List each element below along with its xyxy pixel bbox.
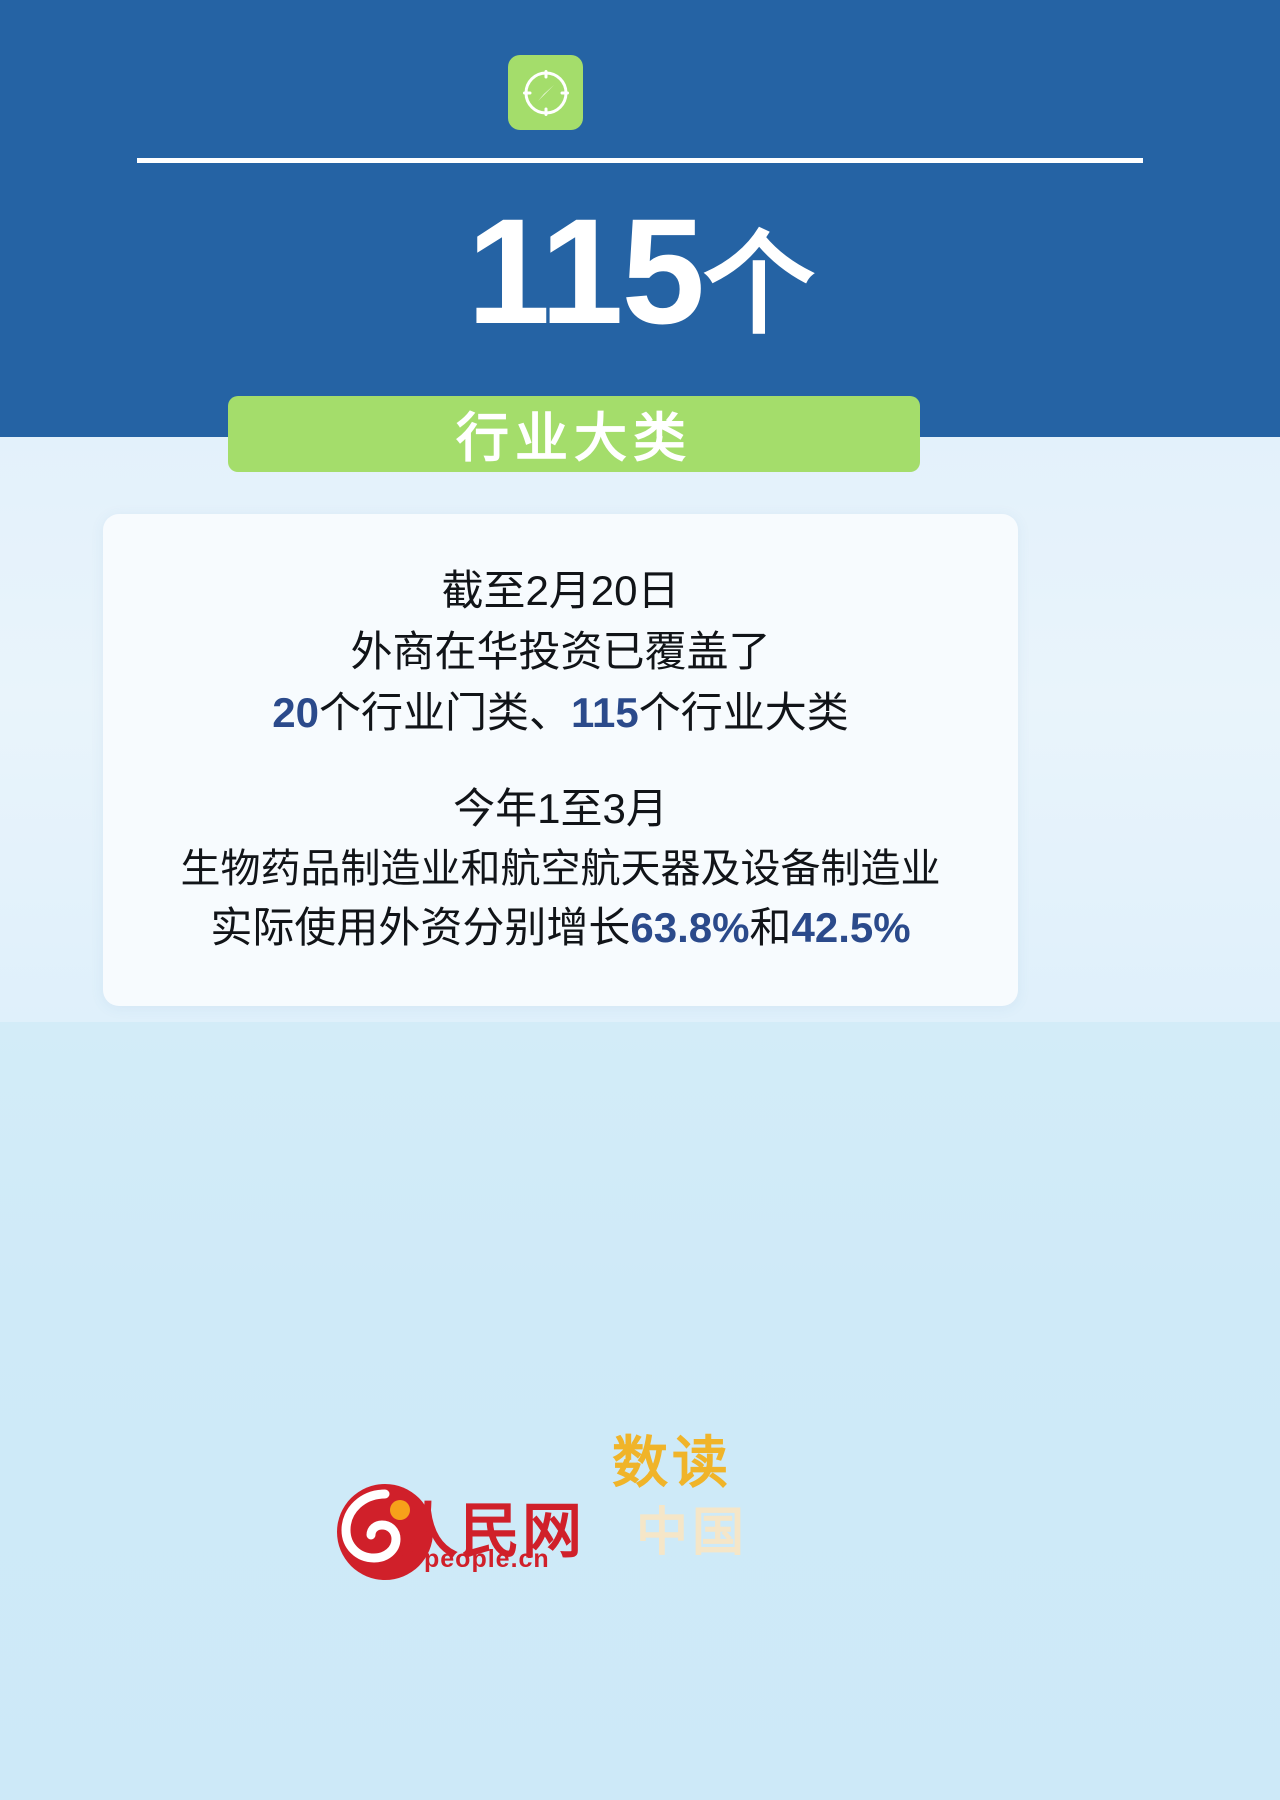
industry-categories-suffix: 个行业门类、 [319, 689, 571, 736]
card-line-industry-counts: 20个行业门类、115个行业大类 [272, 683, 849, 744]
headline-value: 115 [467, 187, 703, 355]
people-cn-domain-text: people.cn [424, 1545, 550, 1574]
card-line-date-1: 截至2月20日 [441, 561, 679, 622]
shudu-logo-line-1: 数读 [612, 1418, 732, 1499]
growth-value-aero: 42.5% [792, 904, 911, 951]
growth-value-bio: 63.8% [630, 904, 749, 951]
card-line-coverage: 外商在华投资已覆盖了 [350, 622, 770, 683]
category-banner: 行业大类 [228, 396, 920, 472]
compass-badge [508, 55, 583, 130]
card-line-date-2: 今年1至3月 [453, 779, 668, 840]
category-banner-label: 行业大类 [456, 396, 692, 472]
shudu-logo-line-2: 中国 [636, 1490, 748, 1565]
industry-categories-count: 20 [272, 689, 319, 736]
compass-icon [520, 67, 572, 119]
industry-classes-suffix: 个行业大类 [639, 689, 849, 736]
stats-card: 截至2月20日 外商在华投资已覆盖了 20个行业门类、115个行业大类 今年1至… [103, 514, 1018, 1006]
growth-prefix: 实际使用外资分别增长 [210, 904, 630, 951]
header-banner: 115个 [0, 0, 1280, 437]
header-divider [137, 158, 1143, 163]
headline-unit: 个 [703, 222, 813, 347]
growth-conjunction: 和 [750, 904, 792, 951]
card-line-growth: 实际使用外资分别增长63.8%和42.5% [210, 898, 910, 959]
card-line-sectors: 生物药品制造业和航空航天器及设备制造业 [181, 840, 941, 898]
headline-number: 115个 [0, 196, 1280, 346]
industry-classes-count: 115 [571, 689, 639, 736]
